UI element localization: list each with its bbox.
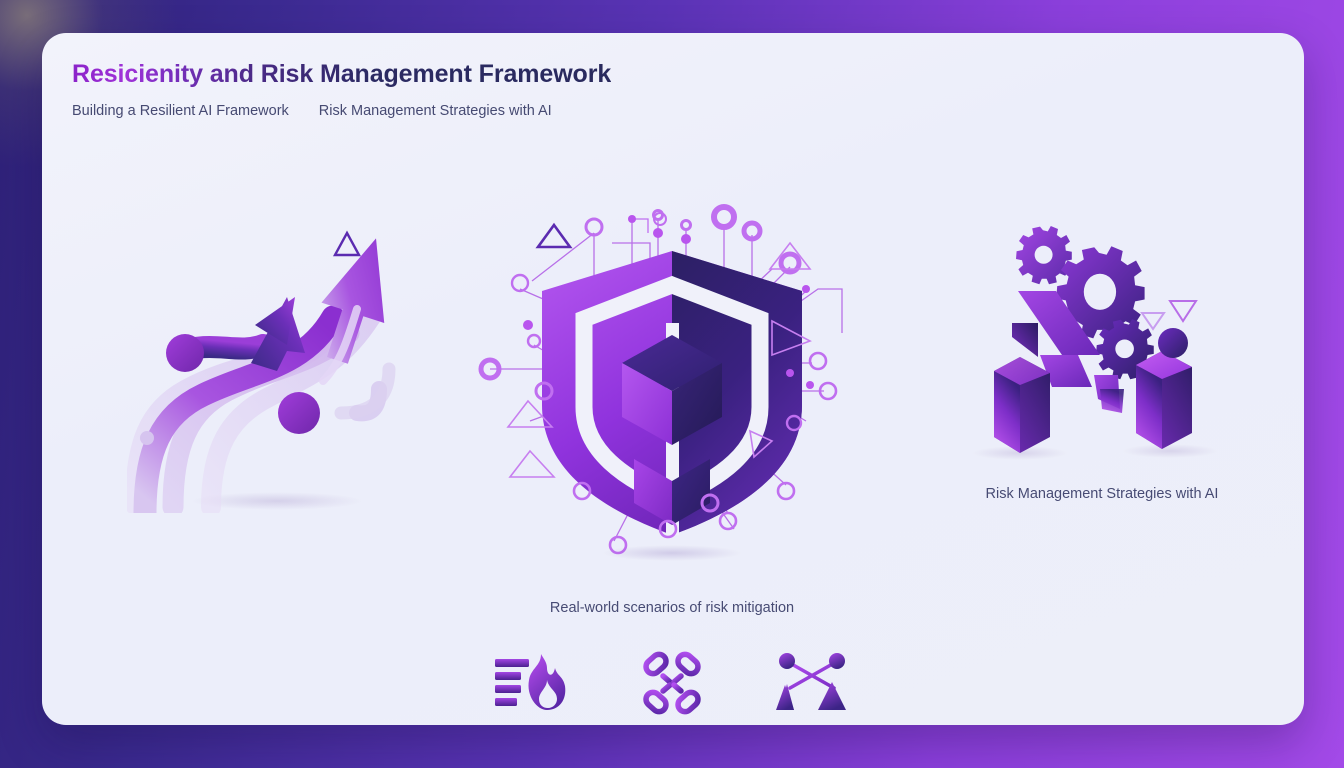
caption-security-shield: Real-world scenarios of risk mitigation <box>550 600 794 616</box>
subtitle-row: Building a Resilient AI Framework Risk M… <box>72 103 611 119</box>
shield-cube-network-illustration <box>472 173 872 578</box>
upward-flow-arrows-illustration <box>127 213 427 518</box>
main-card: Resicienity and Risk Management Framewor… <box>42 33 1304 725</box>
subtitle-item-1: Risk Management Strategies with AI <box>319 103 552 119</box>
subtitle-item-0: Building a Resilient AI Framework <box>72 103 289 119</box>
gears-and-bars-illustration <box>952 223 1252 478</box>
panel-growth-flow <box>112 213 442 518</box>
bottom-icon-row <box>462 643 882 723</box>
card-header: Resicienity and Risk Management Framewor… <box>72 60 611 119</box>
illustration-stage: Real-world scenarios of risk mitigation <box>42 153 1304 725</box>
caption-operations: Risk Management Strategies with AI <box>986 486 1219 502</box>
triangles-network-icon[interactable] <box>767 643 857 723</box>
panel-operations: Risk Management Strategies with AI <box>922 223 1282 502</box>
bar-chart-flame-icon[interactable] <box>487 643 577 723</box>
page-title: Resicienity and Risk Management Framewor… <box>72 60 611 89</box>
panel-security-shield: Real-world scenarios of risk mitigation <box>462 173 882 616</box>
chain-links-icon[interactable] <box>627 643 717 723</box>
